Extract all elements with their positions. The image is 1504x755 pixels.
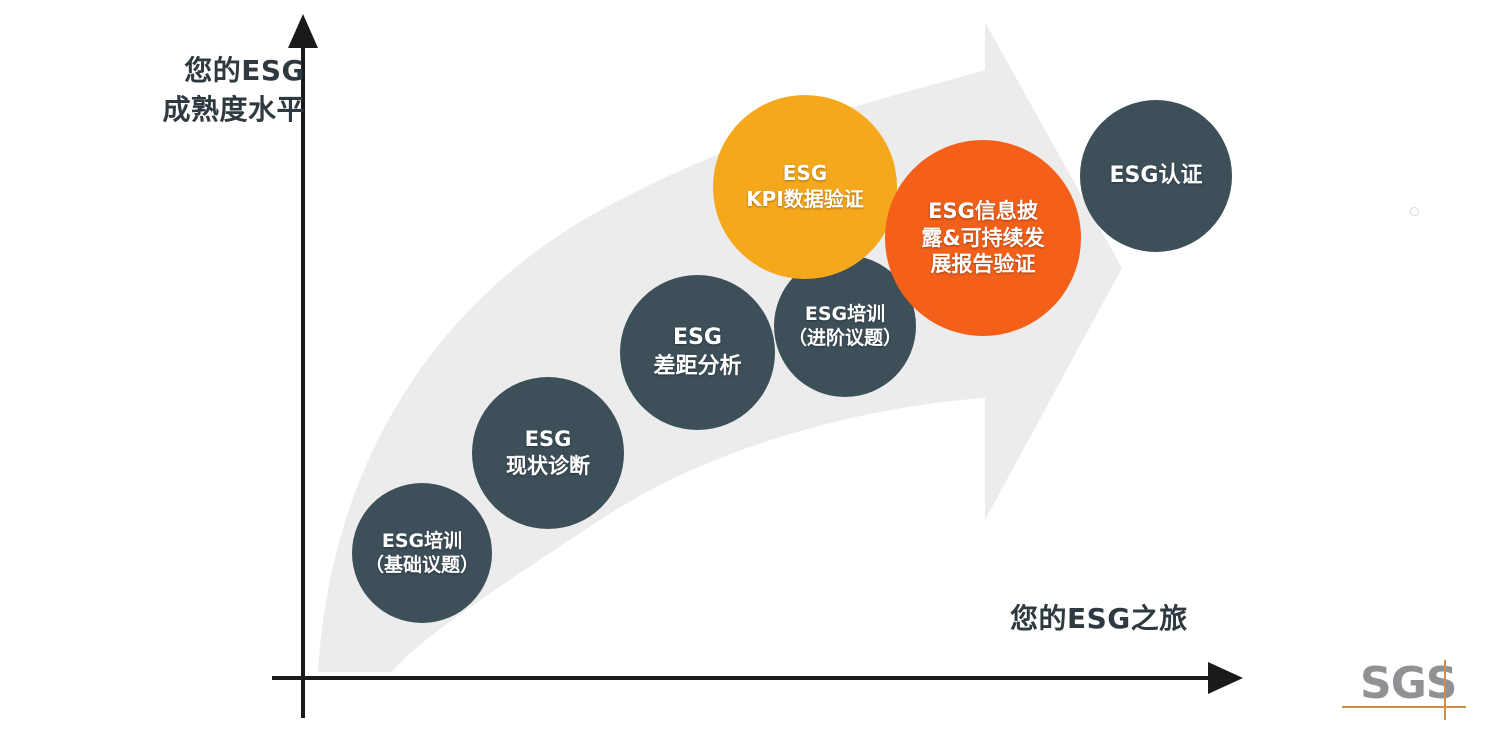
x-axis-arrowhead: [1208, 662, 1243, 694]
x-axis-label: 您的ESG之旅: [1010, 600, 1188, 639]
sgs-logo-text: SGS: [1360, 662, 1457, 706]
stray-dot-mark: [1410, 207, 1419, 216]
y-axis-label: 您的ESG 成熟度水平: [120, 52, 305, 129]
slide-canvas: 您的ESG 成熟度水平 您的ESG之旅 ESG培训 （基础议题）ESG 现状诊断…: [0, 0, 1504, 755]
bubble-esg-training-basic[interactable]: ESG培训 （基础议题）: [352, 483, 492, 623]
bubble-esg-status-diagnosis[interactable]: ESG 现状诊断: [472, 377, 624, 529]
bubble-esg-kpi-data-verification[interactable]: ESG KPI数据验证: [713, 95, 897, 279]
sgs-logo: SGS: [1360, 662, 1480, 737]
bubble-esg-disclosure-report-verification[interactable]: ESG信息披 露&可持续发 展报告验证: [885, 140, 1081, 336]
sgs-logo-vertical-rule: [1444, 660, 1446, 720]
y-axis-arrowhead: [288, 14, 318, 48]
bubble-esg-gap-analysis[interactable]: ESG 差距分析: [620, 275, 775, 430]
bubble-esg-certification[interactable]: ESG认证: [1080, 100, 1232, 252]
